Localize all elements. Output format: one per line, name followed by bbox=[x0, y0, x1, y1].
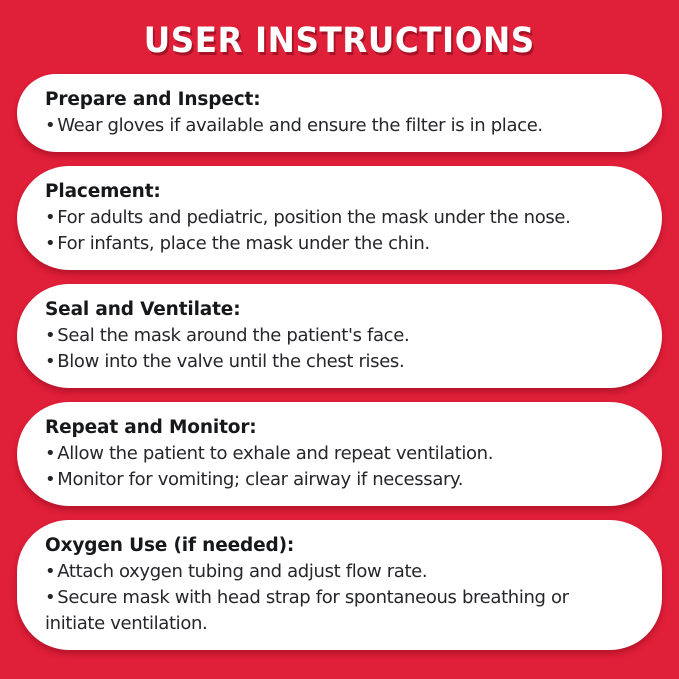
list-item: •For infants, place the mask under the c… bbox=[45, 231, 628, 257]
list-item: •Blow into the valve until the chest ris… bbox=[45, 349, 628, 375]
bullet-dot-icon: • bbox=[45, 205, 55, 231]
list-item: •Wear gloves if available and ensure the… bbox=[45, 113, 628, 139]
bullet-text: Seal the mask around the patient's face. bbox=[57, 325, 409, 346]
card-bullet-list: •Allow the patient to exhale and repeat … bbox=[45, 441, 628, 493]
list-item: •Secure mask with head strap for spontan… bbox=[45, 585, 628, 637]
bullet-dot-icon: • bbox=[45, 467, 55, 493]
list-item: •Monitor for vomiting; clear airway if n… bbox=[45, 467, 628, 493]
instruction-card: Oxygen Use (if needed):•Attach oxygen tu… bbox=[17, 520, 662, 650]
bullet-text: Blow into the valve until the chest rise… bbox=[57, 351, 404, 372]
card-bullet-list: •For adults and pediatric, position the … bbox=[45, 205, 628, 257]
bullet-dot-icon: • bbox=[45, 231, 55, 257]
card-heading: Repeat and Monitor: bbox=[45, 414, 628, 441]
bullet-dot-icon: • bbox=[45, 441, 55, 467]
card-heading: Oxygen Use (if needed): bbox=[45, 532, 628, 559]
list-item: •For adults and pediatric, position the … bbox=[45, 205, 628, 231]
bullet-text: Secure mask with head strap for spontane… bbox=[45, 587, 569, 634]
card-bullet-list: •Attach oxygen tubing and adjust flow ra… bbox=[45, 559, 628, 637]
card-bullet-list: •Wear gloves if available and ensure the… bbox=[45, 113, 628, 139]
bullet-dot-icon: • bbox=[45, 113, 55, 139]
card-bullet-list: •Seal the mask around the patient's face… bbox=[45, 323, 628, 375]
bullet-text: Monitor for vomiting; clear airway if ne… bbox=[57, 469, 463, 490]
instruction-card: Placement:•For adults and pediatric, pos… bbox=[17, 166, 662, 270]
bullet-text: Allow the patient to exhale and repeat v… bbox=[57, 443, 493, 464]
bullet-text: For infants, place the mask under the ch… bbox=[57, 233, 430, 254]
card-heading: Prepare and Inspect: bbox=[45, 86, 628, 113]
page-title: USER INSTRUCTIONS bbox=[144, 21, 535, 61]
instruction-card: Prepare and Inspect:•Wear gloves if avai… bbox=[17, 74, 662, 152]
instruction-card: Repeat and Monitor:•Allow the patient to… bbox=[17, 402, 662, 506]
bullet-dot-icon: • bbox=[45, 349, 55, 375]
bullet-text: Attach oxygen tubing and adjust flow rat… bbox=[57, 561, 427, 582]
instruction-card: Seal and Ventilate:•Seal the mask around… bbox=[17, 284, 662, 388]
list-item: •Seal the mask around the patient's face… bbox=[45, 323, 628, 349]
list-item: •Attach oxygen tubing and adjust flow ra… bbox=[45, 559, 628, 585]
instruction-card-list: Prepare and Inspect:•Wear gloves if avai… bbox=[17, 74, 662, 650]
bullet-dot-icon: • bbox=[45, 323, 55, 349]
list-item: •Allow the patient to exhale and repeat … bbox=[45, 441, 628, 467]
bullet-dot-icon: • bbox=[45, 585, 55, 611]
instructions-poster: USER INSTRUCTIONS Prepare and Inspect:•W… bbox=[0, 0, 679, 679]
bullet-dot-icon: • bbox=[45, 559, 55, 585]
bullet-text: Wear gloves if available and ensure the … bbox=[57, 115, 543, 136]
card-heading: Seal and Ventilate: bbox=[45, 296, 628, 323]
card-heading: Placement: bbox=[45, 178, 628, 205]
bullet-text: For adults and pediatric, position the m… bbox=[57, 207, 570, 228]
